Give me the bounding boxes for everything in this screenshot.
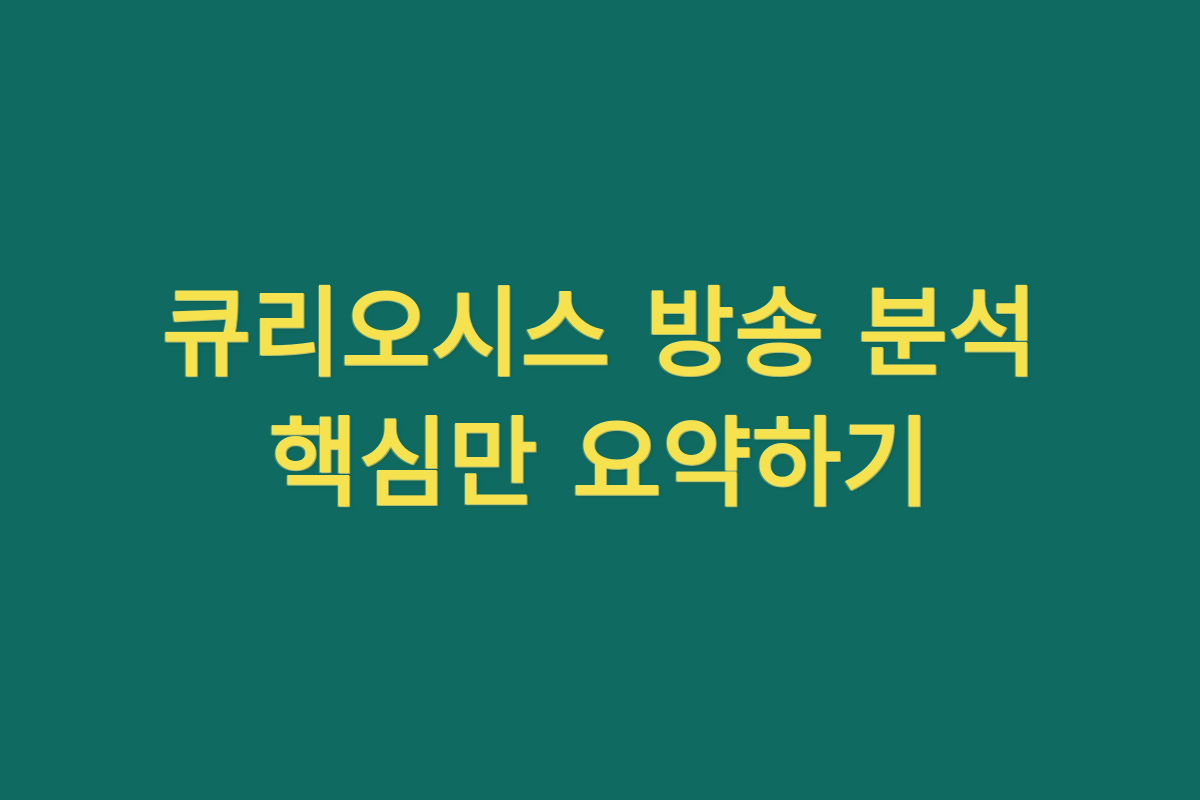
headline-block: 큐리오시스 방송 분석 핵심만 요약하기 (70, 269, 1130, 529)
thumbnail-canvas: 큐리오시스 방송 분석 핵심만 요약하기 (0, 0, 1200, 800)
headline-title: 큐리오시스 방송 분석 핵심만 요약하기 (70, 269, 1130, 529)
